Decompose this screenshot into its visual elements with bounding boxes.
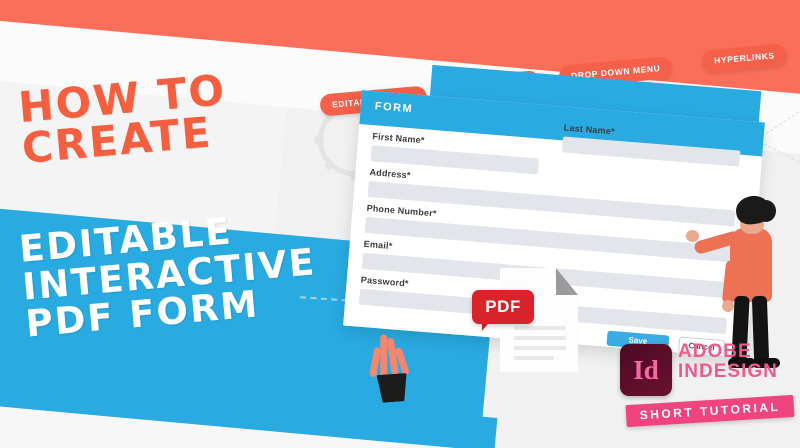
potted-plant-decoration [366,328,419,403]
field-label-password: Password* [361,275,409,289]
pdf-document-icon: PDF [500,268,578,372]
page-title: HOW TO CREATE [17,69,232,169]
brand-name: ADOBE INDESIGN [678,342,778,382]
field-label-address: Address* [369,167,411,180]
person-hand-lower [722,300,734,312]
pdf-badge-label: PDF [472,290,534,324]
person-hair-bun [756,200,776,222]
plant-pot [377,373,409,403]
field-input-phone-number[interactable] [365,217,733,262]
brand-name-line-1: ADOBE [678,342,778,362]
field-input-address[interactable] [368,181,736,226]
field-label-email: Email* [363,239,392,251]
field-label-first-name: First Name* [372,131,425,145]
tutorial-banner-label: SHORT TUTORIAL [625,395,794,427]
indesign-logo-icon: Id [620,344,672,396]
thumbnail-canvas: HOW TO CREATE EDITABLE INTERACTIVE PDF F… [0,0,800,448]
adobe-indesign-branding: Id ADOBE INDESIGN SHORT TUTORIAL [620,336,796,438]
indesign-logo-mark: Id [620,344,672,396]
person-hand [686,230,699,242]
brand-name-line-2: INDESIGN [678,362,778,382]
field-label-phone-number: Phone Number* [366,203,437,219]
tutorial-banner: SHORT TUTORIAL [625,395,794,427]
form-title: FORM [374,100,413,115]
pdf-badge: PDF [472,290,534,324]
pdf-page-fold [556,268,578,295]
